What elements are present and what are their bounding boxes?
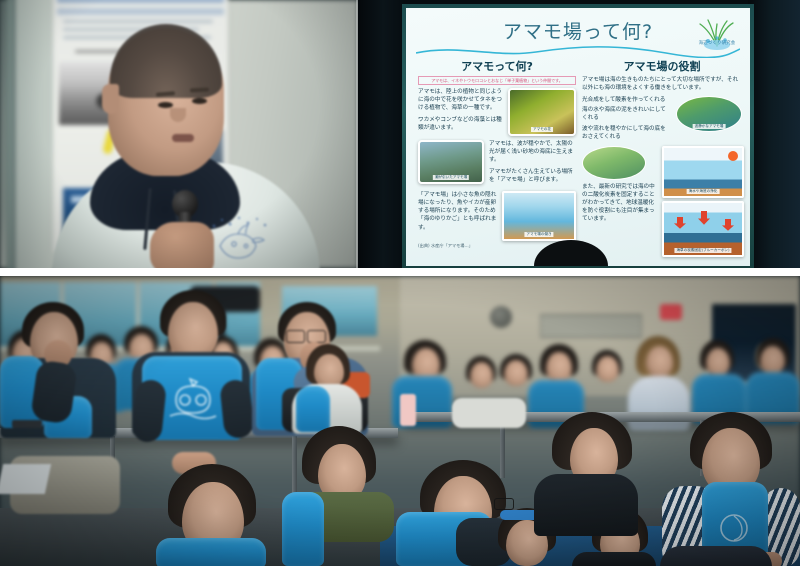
eelgrass-logo-icon xyxy=(690,12,744,56)
projected-slide: アマモ場って何? 海辺づく xyxy=(406,8,750,266)
eelgrass-field-photo-2 xyxy=(582,146,646,180)
drink-bottle xyxy=(400,394,416,426)
dark-curtain-right xyxy=(748,0,800,268)
eelgrass-closeup-caption: アマモの花 xyxy=(531,127,553,132)
left-paragraph-3: アマモは、波が穏やかで、太陽の光が届く浅い砂地の海底に生えます。 xyxy=(489,140,576,164)
man-4-glasses xyxy=(494,498,514,510)
down-arrow-icon-3 xyxy=(722,219,734,231)
carbon-fixation-diagram: 海草の炭素固定(ブルーカーボン) xyxy=(662,201,744,257)
dark-curtain-left xyxy=(358,0,404,268)
right-bullet-1: 光合成をして酸素を作ってくれる xyxy=(582,96,671,104)
photosynthesis-diagram: 海水や海底の浄化 xyxy=(662,146,744,198)
eelgrass-bed-diagram: アマモ場の働き xyxy=(502,191,576,241)
speaker-hand xyxy=(150,222,214,268)
sun-icon xyxy=(728,151,738,161)
left-paragraph-1: アマモは、陸上の植物と同じように海の中で花を咲かせてタネをつける植物で、海草の一… xyxy=(418,88,503,112)
left-paragraph-2: ワカメやコンブなどの海藻とは種類が違います。 xyxy=(418,116,503,132)
carbon-fixation-caption: 海草の炭素固定(ブルーカーボン) xyxy=(674,248,731,253)
slide-right-column: アマモ場の役割 アマモ場は海の生きものたちにとって大切な場所ですが、それ以外にも… xyxy=(582,58,742,257)
child-1-vest xyxy=(156,538,266,566)
left-column-heading: アマモって何? xyxy=(418,58,576,74)
speaker-photo xyxy=(0,0,358,268)
panel-divider-horizontal xyxy=(0,268,800,276)
panel-divider-vertical xyxy=(356,0,358,268)
right-bullet-3: 波や流れを穏やかにして海の底をおさえてくれる xyxy=(582,125,671,141)
person-4-vest xyxy=(296,386,330,432)
left-paragraph-4: アマモがたくさん生えている場所を「アマモ場」と呼びます。 xyxy=(489,168,576,184)
eelgrass-bed-diagram-caption: アマモ場の働き xyxy=(524,232,553,237)
tidal-flat-photo: 潮が引いたアマモ場 xyxy=(418,140,484,184)
man-5-legs xyxy=(660,546,772,566)
woman-1-vest xyxy=(282,492,324,566)
hoodie-print-icon xyxy=(208,210,278,266)
speaker-figure xyxy=(0,0,358,268)
down-arrow-icon xyxy=(674,217,686,229)
photo-collage: アマモ場って何? 海辺づく xyxy=(0,0,800,566)
slide-left-column: アマモって何? アマモは、イネやトウモロコシとおなじ「単子葉植物」という仲間です… xyxy=(418,58,576,253)
photosynthesis-caption: 海水や海底の浄化 xyxy=(687,189,720,194)
vest-emblem-icon xyxy=(712,508,756,548)
right-paragraph-2: また、最新の研究では海の中の二酸化炭素を固定することがわかってきて、地球温暖化を… xyxy=(582,183,657,224)
speaker-ear xyxy=(102,84,119,114)
right-paragraph-1: アマモ場は海の生きものたちにとって大切な場所ですが、それ以外にも海の環境をよくす… xyxy=(582,76,742,92)
tidal-flat-caption: 潮が引いたアマモ場 xyxy=(433,175,469,180)
left-paragraph-5: 「アマモ場」は小さな魚の隠れ場になったり、魚やイカが産卵する場所になります。その… xyxy=(418,191,497,232)
logo-caption: 海辺づくり研究会 xyxy=(690,40,744,46)
white-bag-on-table xyxy=(452,398,526,428)
woman-2-torso xyxy=(534,474,638,536)
eelgrass-field-photo: 波静かなアマモ場 xyxy=(676,96,742,132)
eelgrass-closeup-photo: アマモの花 xyxy=(508,88,576,136)
speaker-eye-right xyxy=(192,98,207,104)
slide-photo: アマモ場って何? 海辺づく xyxy=(358,0,800,268)
eelgrass-field-caption: 波静かなアマモ場 xyxy=(693,124,726,129)
child-3-torso xyxy=(572,552,656,566)
speaker-mouth xyxy=(172,134,194,142)
audience-photo xyxy=(0,276,800,566)
right-column-heading: アマモ場の役割 xyxy=(582,58,742,74)
right-bullet-2: 海の水や海底の泥をきれいにしてくれる xyxy=(582,106,671,122)
left-column-note: アマモは、イネやトウモロコシとおなじ「単子葉植物」という仲間です。 xyxy=(418,76,576,85)
person-4-head xyxy=(314,354,344,388)
down-arrow-icon-2 xyxy=(698,211,710,225)
